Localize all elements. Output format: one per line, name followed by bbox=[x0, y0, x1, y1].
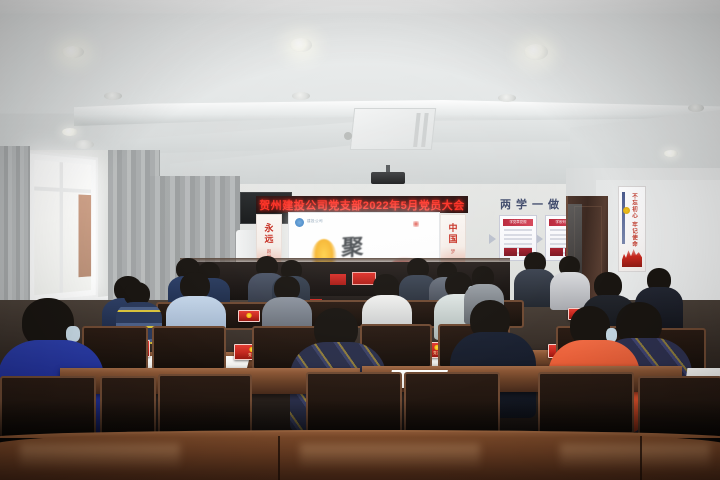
table-sheen-right bbox=[560, 444, 710, 470]
window-mullion-vertical bbox=[60, 162, 63, 293]
slide-logo-text: 建投公司 bbox=[307, 219, 323, 224]
wall-poster-1-header: 学党章党规 bbox=[503, 219, 533, 226]
side-banner-right-text: 中国 bbox=[447, 223, 460, 245]
curtain-left bbox=[0, 146, 30, 326]
right-wall-poster-title: 不忘初心 牢记使命 bbox=[630, 193, 638, 248]
right-wall-poster: 不忘初心 牢记使命 bbox=[618, 186, 646, 272]
chair-backrest bbox=[152, 326, 226, 370]
front-nameplate-secondary bbox=[330, 274, 346, 285]
downlight-icon bbox=[74, 140, 94, 149]
downlight-icon bbox=[62, 46, 84, 58]
poster-arrow-icon bbox=[536, 234, 543, 244]
party-emblem-icon bbox=[246, 313, 252, 318]
meeting-room-photo: 贺州建投公司党支部2022年5月党员大会 永远 跟党走 中国 梦 建投公司 聚 … bbox=[0, 0, 720, 480]
downlight-icon bbox=[688, 104, 704, 112]
right-wall-poster-seal-icon bbox=[623, 207, 630, 214]
table-nameplate bbox=[238, 310, 260, 322]
smoke-detector-icon bbox=[344, 132, 352, 140]
slide-logo-icon bbox=[295, 218, 304, 227]
downlight-icon bbox=[498, 94, 516, 102]
wall-poster-1-header-text: 学党章党规 bbox=[503, 219, 533, 226]
downlight-icon bbox=[290, 38, 312, 52]
side-banner-left-text: 永远 bbox=[263, 223, 276, 245]
right-wall-poster-bar bbox=[622, 192, 625, 244]
table-sheen-mid bbox=[300, 444, 480, 470]
banner-text: 贺州建投公司党支部2022年5月党员大会 bbox=[259, 197, 465, 213]
downlight-icon bbox=[664, 150, 678, 157]
downlight-icon bbox=[292, 92, 310, 100]
table-seam bbox=[640, 436, 642, 480]
ceiling-air-vent bbox=[350, 108, 436, 150]
downlight-icon bbox=[62, 128, 78, 136]
slide-decoration-icon bbox=[413, 221, 419, 227]
poster-arrow-icon bbox=[489, 234, 496, 244]
exterior-brick-wall bbox=[79, 194, 92, 277]
meeting-banner: 贺州建投公司党支部2022年5月党员大会 bbox=[256, 196, 468, 213]
ceiling-projector bbox=[371, 172, 405, 184]
downlight-icon bbox=[524, 44, 548, 60]
downlight-icon bbox=[104, 92, 122, 100]
side-banner-right-subtext: 梦 bbox=[450, 249, 456, 255]
table-seam bbox=[278, 436, 280, 480]
table-sheen-left bbox=[20, 444, 180, 470]
window bbox=[26, 150, 98, 305]
